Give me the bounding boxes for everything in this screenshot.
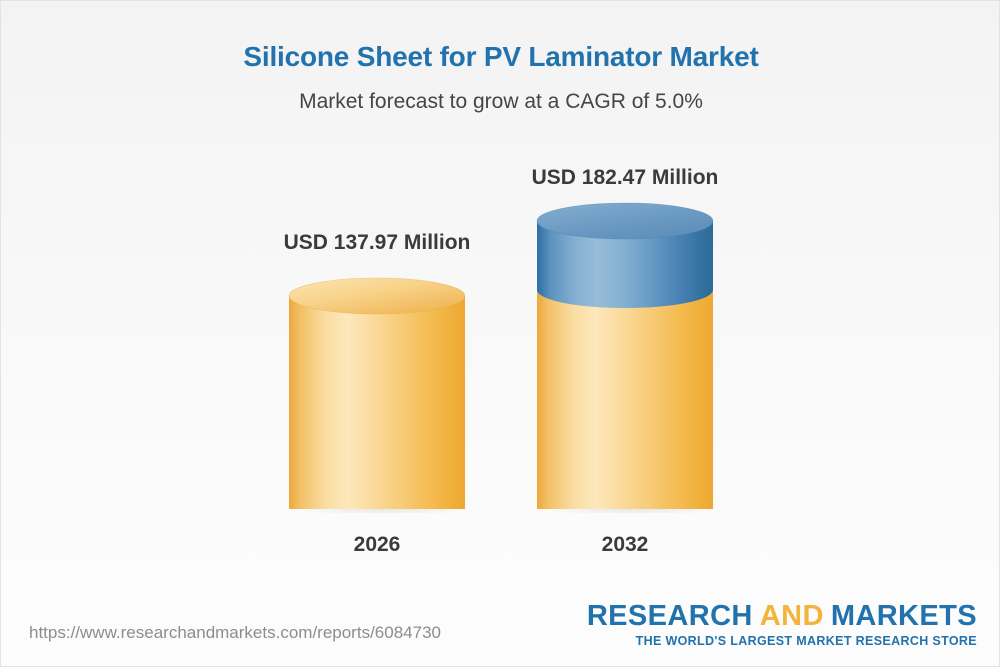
chart-canvas: Silicone Sheet for PV Laminator Market M…: [0, 0, 1000, 667]
bar-cylinder-2026: [287, 277, 467, 513]
logo-word-and: AND: [760, 600, 824, 632]
plot-area: USD 137.97 Million: [1, 1, 1000, 601]
report-url[interactable]: https://www.researchandmarkets.com/repor…: [29, 623, 441, 643]
value-label-2032: USD 182.47 Million: [475, 166, 775, 190]
logo-word-research: RESEARCH: [587, 600, 753, 632]
bar-cylinder-2032: [535, 202, 715, 513]
logo-wordmark: RESEARCHANDMARKETS: [587, 601, 977, 631]
logo-word-markets: MARKETS: [831, 600, 977, 632]
research-and-markets-logo[interactable]: RESEARCHANDMARKETS THE WORLD'S LARGEST M…: [587, 601, 977, 648]
logo-tagline: THE WORLD'S LARGEST MARKET RESEARCH STOR…: [587, 634, 977, 648]
category-label-2032: 2032: [475, 533, 775, 557]
value-label-2026: USD 137.97 Million: [227, 231, 527, 255]
